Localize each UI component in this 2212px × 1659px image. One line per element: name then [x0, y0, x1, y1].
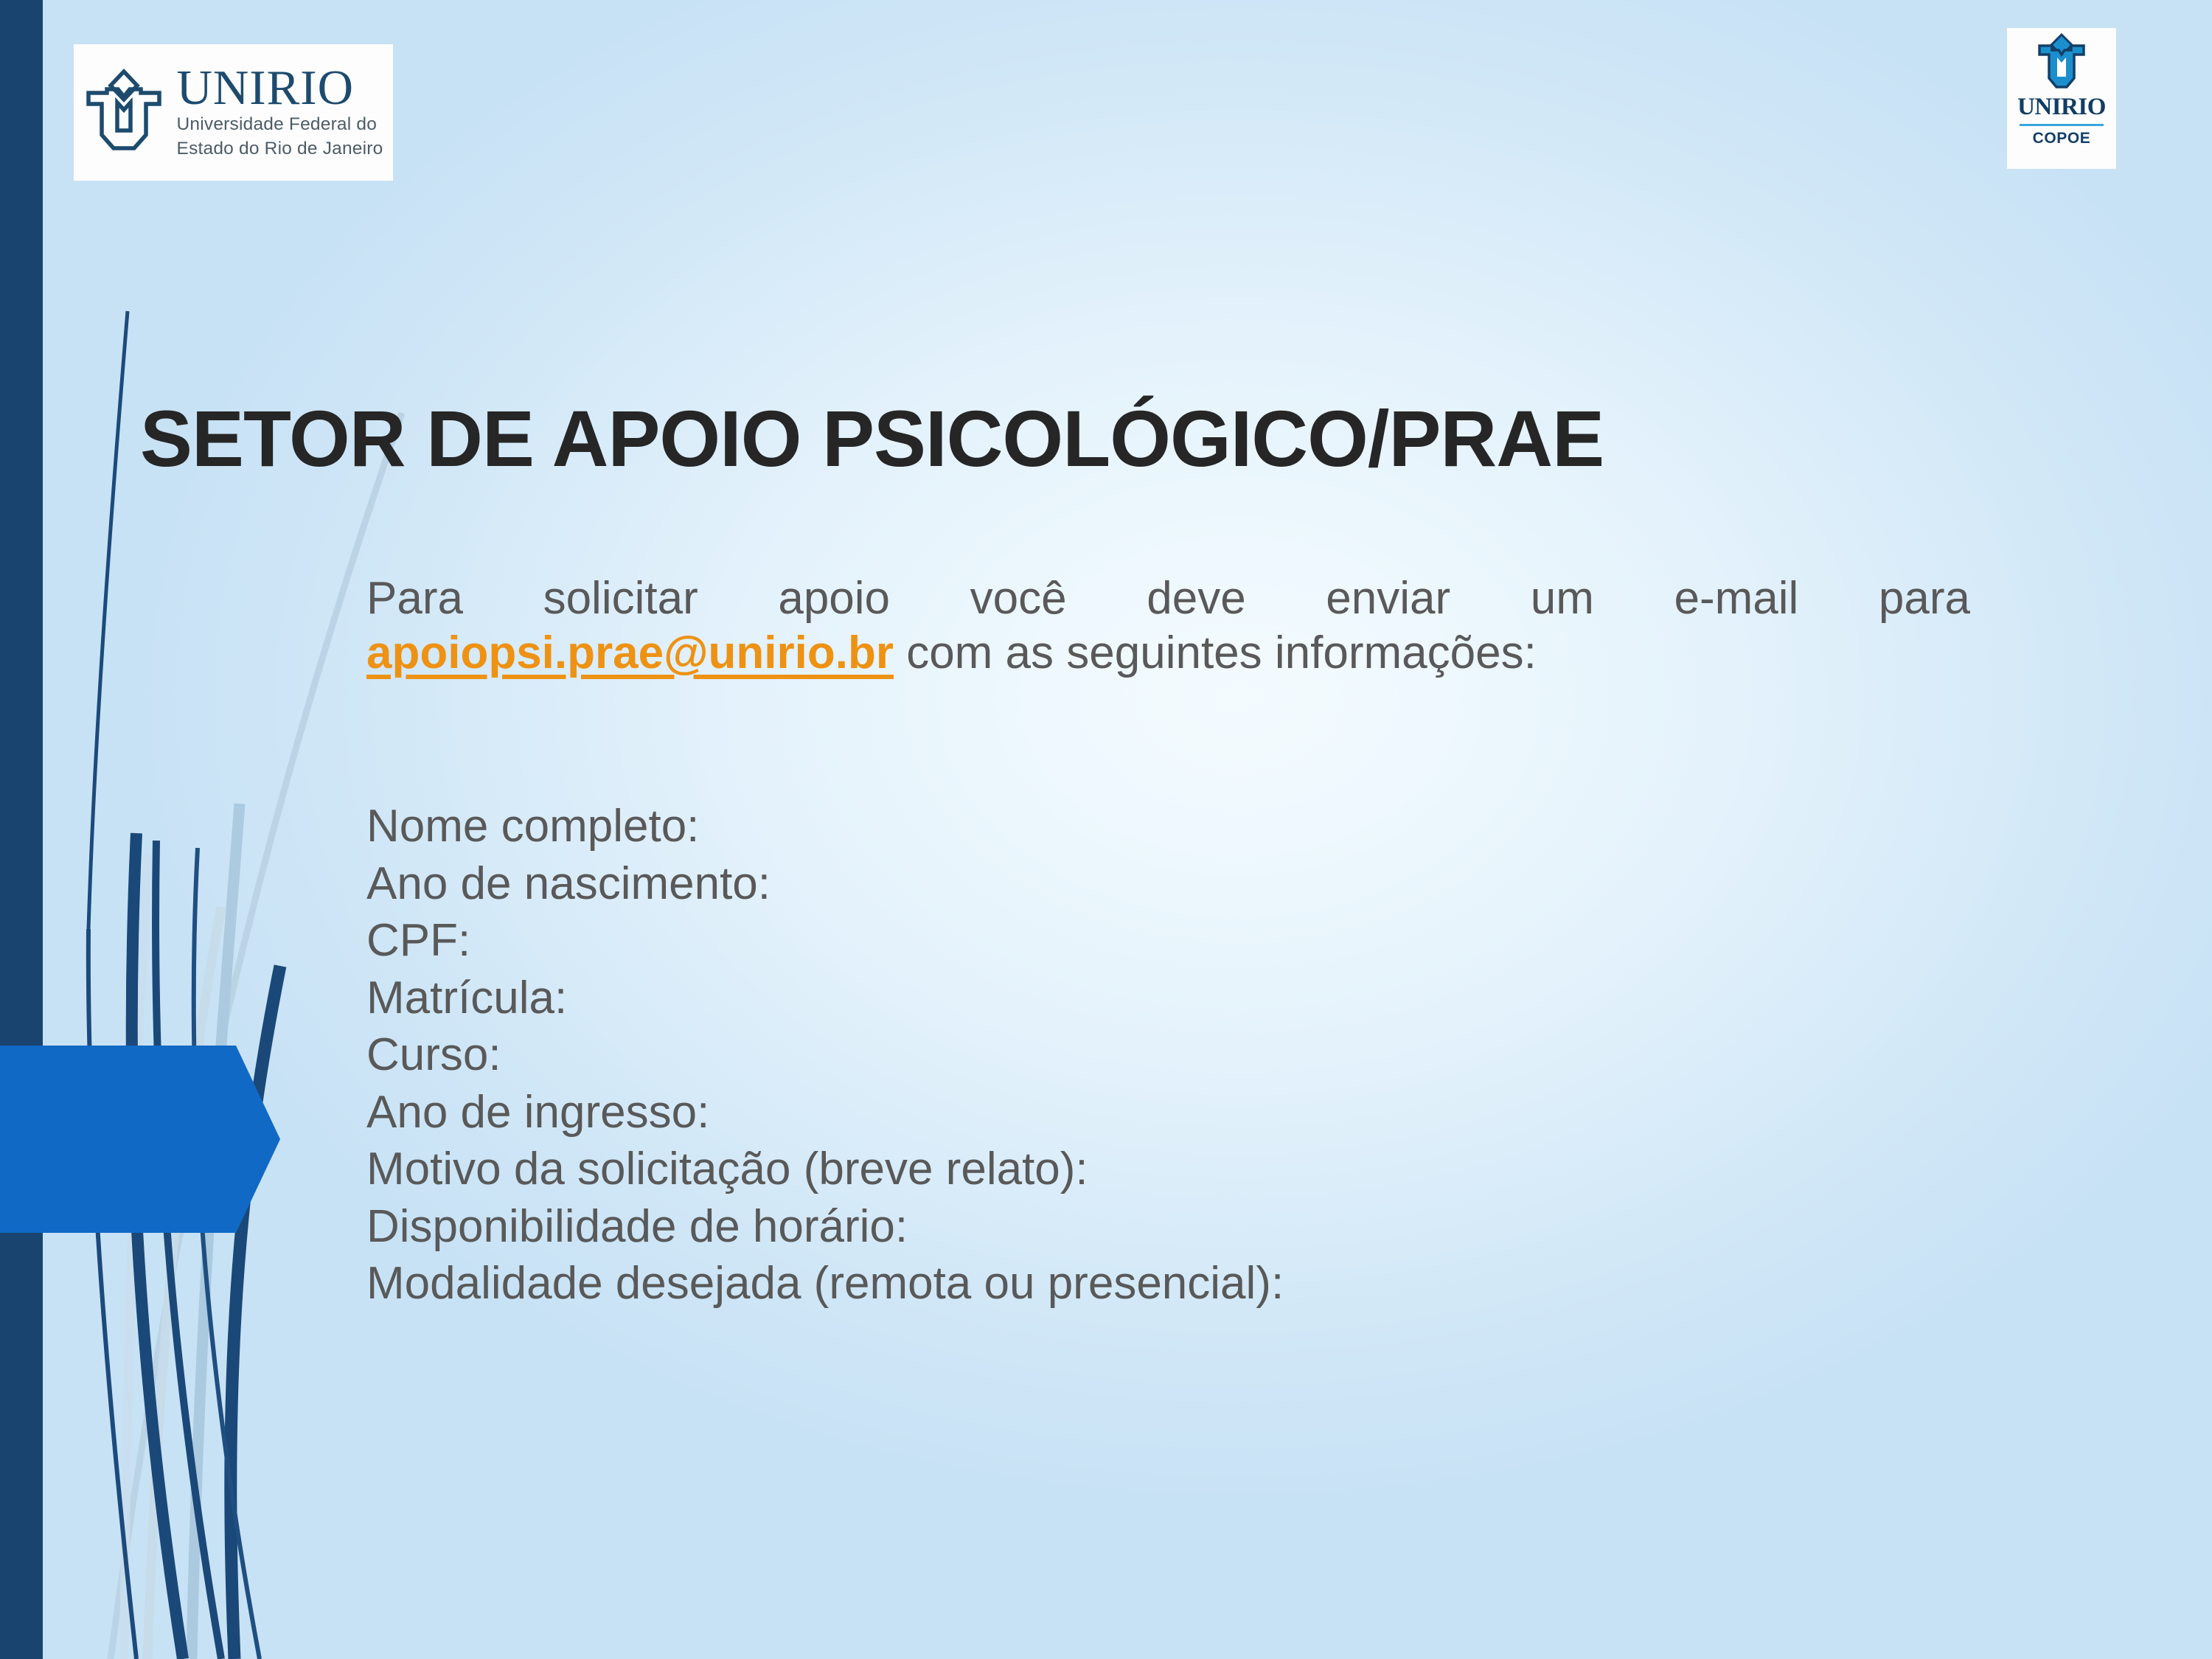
list-item: Curso: — [366, 1032, 1989, 1078]
copoe-logo-unit: COPOE — [2033, 130, 2091, 147]
copoe-logo: UNIRIO COPOE — [2007, 28, 2116, 169]
copoe-logo-divider — [2020, 124, 2104, 126]
slide-title: SETOR DE APOIO PSICOLÓGICO/PRAE — [140, 394, 2043, 484]
list-item: Ano de ingresso: — [366, 1090, 1989, 1135]
list-item: Motivo da solicitação (breve relato): — [366, 1147, 1989, 1192]
email-link[interactable]: apoiopsi.prae@unirio.br — [366, 627, 894, 678]
list-item: Disponibilidade de horário: — [366, 1204, 1989, 1250]
unirio-emblem-icon — [84, 67, 164, 159]
intro-text-before: Para solicitar apoio você deve enviar um… — [366, 573, 1970, 624]
copoe-logo-wordmark: UNIRIO — [2017, 95, 2106, 119]
list-item: Matrícula: — [366, 975, 1989, 1021]
presentation-slide: UNIRIO Universidade Federal do Estado do… — [0, 0, 2212, 1659]
blue-arrow-shape — [0, 1046, 280, 1233]
unirio-logo-subtitle-line1: Universidade Federal do — [177, 114, 378, 136]
list-item: Nome completo: — [366, 804, 1989, 849]
list-item: Modalidade desejada (remota ou presencia… — [366, 1261, 1989, 1307]
slide-body: Para solicitar apoio você deve enviar um… — [366, 571, 1970, 681]
copoe-emblem-icon — [2032, 32, 2091, 93]
requested-fields-list: Nome completo: Ano de nascimento: CPF: M… — [366, 804, 1989, 1318]
intro-text-after: com as seguintes informações: — [894, 627, 1537, 678]
unirio-logo: UNIRIO Universidade Federal do Estado do… — [74, 44, 393, 181]
list-item: Ano de nascimento: — [366, 861, 1989, 907]
intro-paragraph: Para solicitar apoio você deve enviar um… — [366, 571, 1970, 681]
list-item: CPF: — [366, 918, 1989, 964]
left-accent-bar — [0, 0, 43, 1659]
unirio-logo-subtitle-line2: Estado do Rio de Janeiro — [177, 138, 383, 160]
unirio-logo-wordmark: UNIRIO — [177, 65, 354, 112]
